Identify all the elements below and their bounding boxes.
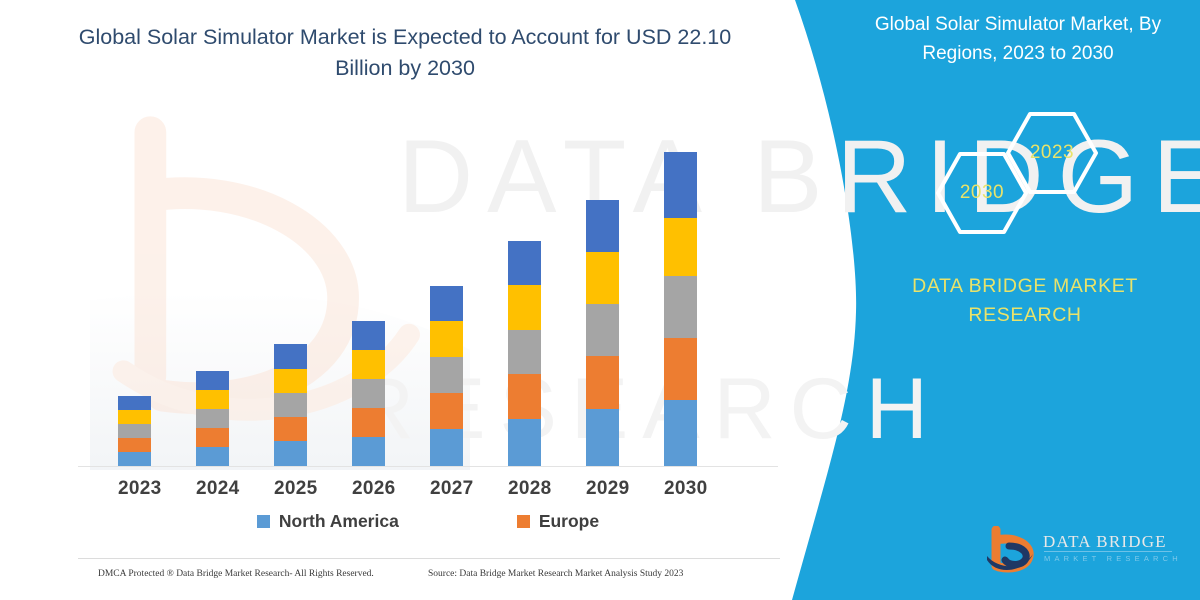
chart-legend: North AmericaEurope bbox=[78, 511, 778, 532]
bar-segment-2027-s5 bbox=[430, 286, 463, 321]
bar-2023 bbox=[118, 396, 151, 466]
bar-2026 bbox=[352, 321, 385, 466]
bar-segment-2025-s1 bbox=[274, 441, 307, 466]
panel-title: Global Solar Simulator Market, By Region… bbox=[858, 10, 1178, 68]
footer-source-text: Source: Data Bridge Market Research Mark… bbox=[428, 569, 683, 579]
brand-name: DATA BRIDGE MARKET RESEARCH bbox=[880, 272, 1170, 330]
bar-2030 bbox=[664, 152, 697, 466]
bar-segment-2029-s1 bbox=[586, 409, 619, 466]
legend-label: Europe bbox=[539, 511, 599, 532]
footer-dmca-text: DMCA Protected ® Data Bridge Market Rese… bbox=[98, 569, 374, 579]
bar-segment-2030-s3 bbox=[664, 276, 697, 338]
bar-segment-2024-s4 bbox=[196, 390, 229, 409]
bar-segment-2028-s4 bbox=[508, 285, 541, 330]
logo-subtitle: MARKET RESEARCH bbox=[1044, 554, 1182, 563]
bar-segment-2023-s5 bbox=[118, 396, 151, 410]
data-bridge-logo: DATA BRIDGE MARKET RESEARCH bbox=[985, 524, 1181, 578]
bar-segment-2028-s2 bbox=[508, 374, 541, 419]
bar-segment-2025-s4 bbox=[274, 369, 307, 393]
x-axis-label-2025: 2025 bbox=[274, 478, 307, 500]
footer-divider bbox=[78, 558, 780, 559]
x-axis-label-2026: 2026 bbox=[352, 478, 385, 500]
bar-segment-2027-s4 bbox=[430, 321, 463, 357]
bar-segment-2029-s4 bbox=[586, 252, 619, 304]
bar-segment-2030-s5 bbox=[664, 152, 697, 218]
infographic-canvas: DATA BRIDGE RESEARCH Global Solar Simula… bbox=[0, 0, 1200, 600]
bar-segment-2023-s2 bbox=[118, 438, 151, 452]
hexagon-label: 2030 bbox=[960, 182, 1004, 204]
bar-segment-2028-s3 bbox=[508, 330, 541, 374]
bar-segment-2029-s2 bbox=[586, 356, 619, 409]
x-axis-label-2030: 2030 bbox=[664, 478, 697, 500]
x-axis-label-2024: 2024 bbox=[196, 478, 229, 500]
x-axis-label-2029: 2029 bbox=[586, 478, 619, 500]
bar-segment-2023-s1 bbox=[118, 452, 151, 466]
stacked-bar-chart: 20232024202520262027202820292030 bbox=[0, 0, 800, 600]
chart-baseline bbox=[78, 466, 778, 467]
bar-segment-2025-s2 bbox=[274, 417, 307, 441]
bar-segment-2023-s4 bbox=[118, 410, 151, 424]
hexagon-label: 2023 bbox=[1030, 142, 1074, 164]
bar-segment-2030-s2 bbox=[664, 338, 697, 400]
legend-item-north-america[interactable]: North America bbox=[257, 511, 399, 532]
logo-b-mark-icon bbox=[985, 526, 1037, 576]
bar-segment-2027-s3 bbox=[430, 357, 463, 393]
bar-segment-2028-s1 bbox=[508, 419, 541, 466]
x-axis-label-2028: 2028 bbox=[508, 478, 541, 500]
bar-segment-2026-s1 bbox=[352, 437, 385, 466]
legend-item-europe[interactable]: Europe bbox=[517, 511, 599, 532]
bar-segment-2030-s1 bbox=[664, 400, 697, 466]
x-axis-label-2027: 2027 bbox=[430, 478, 463, 500]
logo-wordmark: DATA BRIDGE bbox=[1043, 532, 1167, 552]
bar-segment-2026-s2 bbox=[352, 408, 385, 437]
legend-swatch-icon bbox=[257, 515, 270, 528]
hexagon-badge-2030: 2030 bbox=[934, 150, 1030, 236]
legend-label: North America bbox=[279, 511, 399, 532]
bar-segment-2029-s3 bbox=[586, 304, 619, 356]
bar-segment-2029-s5 bbox=[586, 200, 619, 252]
bar-2027 bbox=[430, 286, 463, 466]
bar-segment-2024-s2 bbox=[196, 428, 229, 447]
bar-segment-2026-s4 bbox=[352, 350, 385, 379]
legend-swatch-icon bbox=[517, 515, 530, 528]
bar-segment-2027-s1 bbox=[430, 429, 463, 466]
bar-2025 bbox=[274, 344, 307, 466]
bar-segment-2024-s5 bbox=[196, 371, 229, 390]
bar-segment-2026-s3 bbox=[352, 379, 385, 408]
logo-divider bbox=[1044, 551, 1172, 552]
bar-segment-2023-s3 bbox=[118, 424, 151, 438]
bar-segment-2025-s3 bbox=[274, 393, 307, 417]
x-axis-label-2023: 2023 bbox=[118, 478, 151, 500]
bar-segment-2027-s2 bbox=[430, 393, 463, 429]
bar-segment-2026-s5 bbox=[352, 321, 385, 350]
bar-2029 bbox=[586, 200, 619, 466]
bar-segment-2030-s4 bbox=[664, 218, 697, 276]
bar-segment-2024-s1 bbox=[196, 447, 229, 466]
bar-segment-2025-s5 bbox=[274, 344, 307, 369]
bar-segment-2024-s3 bbox=[196, 409, 229, 428]
bar-2028 bbox=[508, 241, 541, 466]
bar-segment-2028-s5 bbox=[508, 241, 541, 285]
bar-2024 bbox=[196, 371, 229, 466]
